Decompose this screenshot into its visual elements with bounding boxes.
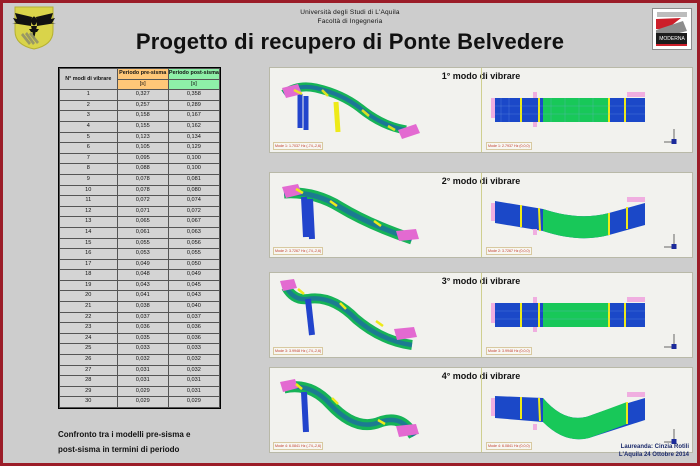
- table-row: 200,0410,043: [60, 291, 220, 302]
- cell-mode-number: 23: [60, 323, 118, 334]
- cell-period-post: 0,037: [168, 312, 219, 323]
- table-row: 70,0950,100: [60, 153, 220, 164]
- table-row: 260,0320,032: [60, 355, 220, 366]
- cell-mode-number: 8: [60, 164, 118, 175]
- cell-mode-number: 29: [60, 386, 118, 397]
- cell-mode-number: 7: [60, 153, 118, 164]
- unit-pre-sisma: [s]: [117, 79, 168, 90]
- cell-period-pre: 0,032: [117, 355, 168, 366]
- cell-period-post: 0,081: [168, 174, 219, 185]
- cell-period-pre: 0,031: [117, 365, 168, 376]
- cell-period-pre: 0,123: [117, 132, 168, 143]
- author-name: Laureanda: Cinzia Rotili: [619, 443, 689, 451]
- mode-label-right: Mode 4: 6.0841 Hz (0,0,0): [486, 442, 532, 450]
- caption-line-1: Confronto tra i modelli pre-sisma e: [58, 427, 273, 442]
- cell-mode-number: 21: [60, 302, 118, 313]
- cell-period-pre: 0,078: [117, 174, 168, 185]
- cell-period-post: 0,043: [168, 291, 219, 302]
- cell-mode-number: 4: [60, 121, 118, 132]
- cell-period-pre: 0,158: [117, 111, 168, 122]
- cell-period-post: 0,045: [168, 280, 219, 291]
- cell-mode-number: 25: [60, 344, 118, 355]
- cell-mode-number: 5: [60, 132, 118, 143]
- header-pre-sisma: Periodo pre-sisma: [117, 69, 168, 80]
- cell-period-pre: 0,036: [117, 323, 168, 334]
- table-row: 10,3270,358: [60, 90, 220, 101]
- cell-period-pre: 0,053: [117, 249, 168, 260]
- cell-period-post: 0,067: [168, 217, 219, 228]
- mode-label-left: Mode 4: 6.0841 Hz (-74,-2,6): [273, 442, 323, 450]
- cell-period-pre: 0,029: [117, 386, 168, 397]
- unit-post-sisma: [s]: [168, 79, 219, 90]
- cell-period-post: 0,080: [168, 185, 219, 196]
- cell-period-pre: 0,327: [117, 90, 168, 101]
- table-row: 190,0430,045: [60, 280, 220, 291]
- table-row: 170,0490,050: [60, 259, 220, 270]
- cell-period-post: 0,056: [168, 238, 219, 249]
- cell-period-post: 0,033: [168, 344, 219, 355]
- presentation-slide: Università degli Studi di L'Aquila Facol…: [0, 0, 700, 466]
- cell-mode-number: 19: [60, 280, 118, 291]
- cell-mode-number: 3: [60, 111, 118, 122]
- periods-table-wrapper: N° modi di vibrare Periodo pre-sisma Per…: [58, 67, 221, 409]
- table-row: 300,0290,029: [60, 397, 220, 408]
- cell-period-post: 0,032: [168, 355, 219, 366]
- cell-period-post: 0,129: [168, 143, 219, 154]
- cell-period-pre: 0,155: [117, 121, 168, 132]
- cell-mode-number: 12: [60, 206, 118, 217]
- table-row: 270,0310,032: [60, 365, 220, 376]
- table-row: 130,0650,067: [60, 217, 220, 228]
- axis-triad-icon: [662, 231, 684, 251]
- cell-period-pre: 0,041: [117, 291, 168, 302]
- cell-period-post: 0,031: [168, 376, 219, 387]
- cell-mode-number: 10: [60, 185, 118, 196]
- mode-view-elevation: [481, 273, 692, 357]
- mode-shape-panel-3: 3° modo di vibrare: [269, 272, 693, 358]
- mode-label-right: Mode 2: 3.7267 Hz (0,0,0): [486, 247, 532, 255]
- cell-period-pre: 0,031: [117, 376, 168, 387]
- table-row: 60,1050,129: [60, 143, 220, 154]
- axis-triad-icon: [662, 126, 684, 146]
- cell-mode-number: 27: [60, 365, 118, 376]
- table-row: 20,2570,289: [60, 100, 220, 111]
- university-name: Università degli Studi di L'Aquila: [3, 8, 697, 17]
- cell-period-post: 0,074: [168, 196, 219, 207]
- table-row: 230,0360,036: [60, 323, 220, 334]
- mode-label-left: Mode 3: 3.9948 Hz (-74,-2,6): [273, 347, 323, 355]
- author-credits: Laureanda: Cinzia Rotili L'Aquila 24 Ott…: [619, 443, 689, 459]
- mode-view-elevation: [481, 368, 692, 452]
- cell-mode-number: 18: [60, 270, 118, 281]
- table-row: 90,0780,081: [60, 174, 220, 185]
- cell-period-pre: 0,049: [117, 259, 168, 270]
- cell-period-post: 0,289: [168, 100, 219, 111]
- mode-label-left: Mode 2: 3.7267 Hz (-74,-2,6): [273, 247, 323, 255]
- mode-view-3d: [270, 68, 481, 152]
- cell-period-pre: 0,065: [117, 217, 168, 228]
- cell-period-pre: 0,078: [117, 185, 168, 196]
- page-title: Progetto di recupero di Ponte Belvedere: [3, 29, 697, 55]
- table-header-row: N° modi di vibrare Periodo pre-sisma Per…: [60, 69, 220, 80]
- table-row: 280,0310,031: [60, 376, 220, 387]
- mode-view-elevation: [481, 173, 692, 257]
- university-header: Università degli Studi di L'Aquila Facol…: [3, 8, 697, 26]
- mode-view-3d: [270, 173, 481, 257]
- mode-shape-panel-2: 2° modo di vibrare: [269, 172, 693, 258]
- cell-period-post: 0,100: [168, 153, 219, 164]
- header-post-sisma: Periodo post-sisma: [168, 69, 219, 80]
- cell-period-post: 0,063: [168, 227, 219, 238]
- cell-period-pre: 0,029: [117, 397, 168, 408]
- table-row: 30,1580,167: [60, 111, 220, 122]
- cell-mode-number: 24: [60, 333, 118, 344]
- table-row: 100,0780,080: [60, 185, 220, 196]
- cell-mode-number: 15: [60, 238, 118, 249]
- cell-period-post: 0,050: [168, 259, 219, 270]
- mode-view-3d: [270, 368, 481, 452]
- mode-label-right: Mode 3: 3.9948 Hz (0,0,0): [486, 347, 532, 355]
- mode-shape-panel-4: 4° modo di vibrare: [269, 367, 693, 453]
- cell-mode-number: 17: [60, 259, 118, 270]
- cell-period-post: 0,049: [168, 270, 219, 281]
- cell-mode-number: 1: [60, 90, 118, 101]
- table-row: 40,1550,162: [60, 121, 220, 132]
- cell-period-post: 0,100: [168, 164, 219, 175]
- cell-period-pre: 0,072: [117, 196, 168, 207]
- cell-period-pre: 0,035: [117, 333, 168, 344]
- cell-mode-number: 14: [60, 227, 118, 238]
- table-row: 120,0710,072: [60, 206, 220, 217]
- mode-shape-panel-1: 1° modo di vibrare: [269, 67, 693, 153]
- mode-view-elevation: [481, 68, 692, 152]
- cell-period-post: 0,040: [168, 302, 219, 313]
- cell-period-post: 0,036: [168, 333, 219, 344]
- cell-mode-number: 13: [60, 217, 118, 228]
- cell-period-pre: 0,257: [117, 100, 168, 111]
- axis-triad-icon: [662, 331, 684, 351]
- faculty-name: Facoltà di Ingegneria: [3, 17, 697, 26]
- table-row: 160,0530,055: [60, 249, 220, 260]
- cell-period-post: 0,358: [168, 90, 219, 101]
- cell-period-post: 0,134: [168, 132, 219, 143]
- cell-period-pre: 0,048: [117, 270, 168, 281]
- cell-mode-number: 28: [60, 376, 118, 387]
- table-row: 140,0610,063: [60, 227, 220, 238]
- cell-mode-number: 9: [60, 174, 118, 185]
- mode-view-3d: [270, 273, 481, 357]
- cell-mode-number: 2: [60, 100, 118, 111]
- periods-table: N° modi di vibrare Periodo pre-sisma Per…: [59, 68, 220, 408]
- cell-period-pre: 0,037: [117, 312, 168, 323]
- cell-period-pre: 0,061: [117, 227, 168, 238]
- table-row: 180,0480,049: [60, 270, 220, 281]
- cell-period-post: 0,072: [168, 206, 219, 217]
- caption-line-2: post-sisma in termini di periodo: [58, 442, 273, 457]
- table-row: 240,0350,036: [60, 333, 220, 344]
- cell-period-pre: 0,105: [117, 143, 168, 154]
- cell-period-pre: 0,055: [117, 238, 168, 249]
- presentation-date: L'Aquila 24 Ottobre 2014: [619, 451, 689, 459]
- cell-mode-number: 30: [60, 397, 118, 408]
- cell-mode-number: 22: [60, 312, 118, 323]
- cell-period-post: 0,167: [168, 111, 219, 122]
- cell-period-post: 0,032: [168, 365, 219, 376]
- table-row: 290,0290,031: [60, 386, 220, 397]
- table-row: 80,0880,100: [60, 164, 220, 175]
- header-mode-count: N° modi di vibrare: [60, 69, 118, 90]
- table-row: 250,0330,033: [60, 344, 220, 355]
- cell-period-pre: 0,088: [117, 164, 168, 175]
- cell-period-pre: 0,043: [117, 280, 168, 291]
- periods-table-body: 10,3270,35820,2570,28930,1580,16740,1550…: [60, 90, 220, 408]
- cell-mode-number: 11: [60, 196, 118, 207]
- cell-period-post: 0,036: [168, 323, 219, 334]
- table-row: 110,0720,074: [60, 196, 220, 207]
- table-row: 50,1230,134: [60, 132, 220, 143]
- table-row: 210,0380,040: [60, 302, 220, 313]
- table-row: 150,0550,056: [60, 238, 220, 249]
- cell-period-pre: 0,033: [117, 344, 168, 355]
- cell-period-pre: 0,095: [117, 153, 168, 164]
- cell-mode-number: 26: [60, 355, 118, 366]
- cell-mode-number: 20: [60, 291, 118, 302]
- cell-period-post: 0,031: [168, 386, 219, 397]
- mode-label-right: Mode 1: 2.7937 Hz (0,0,0): [486, 142, 532, 150]
- table-row: 220,0370,037: [60, 312, 220, 323]
- cell-period-post: 0,055: [168, 249, 219, 260]
- cell-period-pre: 0,038: [117, 302, 168, 313]
- cell-mode-number: 6: [60, 143, 118, 154]
- cell-mode-number: 16: [60, 249, 118, 260]
- cell-period-pre: 0,071: [117, 206, 168, 217]
- cell-period-post: 0,029: [168, 397, 219, 408]
- table-caption: Confronto tra i modelli pre-sisma e post…: [58, 427, 273, 457]
- mode-label-left: Mode 1: 1.7037 Hz (-74,-2,6): [273, 142, 323, 150]
- cell-period-post: 0,162: [168, 121, 219, 132]
